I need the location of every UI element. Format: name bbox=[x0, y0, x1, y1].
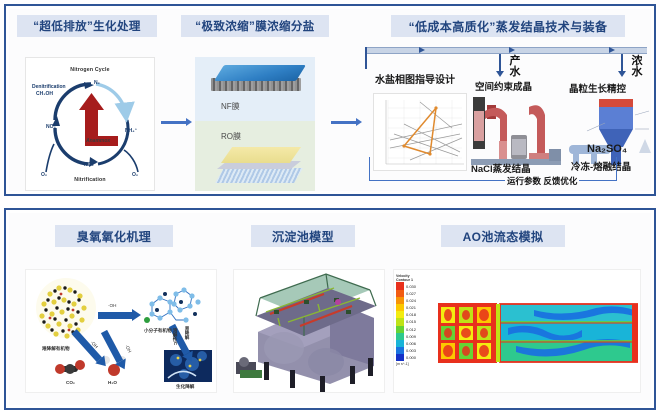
legend-value: 0.009 bbox=[406, 334, 416, 339]
legend-value: 0.000 bbox=[406, 355, 416, 360]
legend-unit: [m s^-1] bbox=[396, 362, 436, 366]
concentrated-water-downline bbox=[621, 54, 623, 72]
nitrogen-cycle-figure: Nitrogen Cycle Nitrification bbox=[25, 57, 155, 191]
na2so4-caption-top: 晶粒生长精控 bbox=[569, 81, 626, 95]
slide-root: “超低排放”生化处理 “极致浓缩”膜浓缩分盐 “低成本高质化”蒸发结晶技术与装备… bbox=[0, 0, 660, 414]
bottom-panel-inner: 臭氧氧化机理 沉淀池模型 AO池流态模拟 bbox=[9, 213, 651, 405]
chip-sedimentation-label: 沉淀池模型 bbox=[272, 228, 334, 245]
legend-row: 0.009 bbox=[394, 333, 436, 340]
legend-row: 0.030 bbox=[394, 282, 436, 289]
legend-row: 0.024 bbox=[394, 297, 436, 304]
legend-value: 0.027 bbox=[406, 291, 416, 296]
ro-support-layer bbox=[215, 168, 303, 183]
steam-bus-bar bbox=[365, 47, 647, 54]
legend-row: 0.003 bbox=[394, 347, 436, 354]
nf-slab-graphic bbox=[211, 65, 301, 95]
chip-ao-cfd-label: AO池流态模拟 bbox=[463, 228, 544, 245]
flow-arrow-2 bbox=[331, 121, 357, 124]
chip-ao-cfd[interactable]: AO池流态模拟 bbox=[441, 225, 565, 247]
chip-evaporation-label: “低成本高质化”蒸发结晶技术与装备 bbox=[409, 18, 608, 35]
ro-membrane-figure: RO膜 bbox=[195, 121, 315, 191]
feedback-loop-line bbox=[369, 157, 617, 181]
legend-swatch bbox=[396, 340, 404, 347]
ro-slab-graphic bbox=[215, 147, 303, 185]
label-o2-left: O₂ bbox=[41, 172, 47, 178]
nf-membrane-label: NF膜 bbox=[221, 101, 240, 112]
chip-biochem[interactable]: “超低排放”生化处理 bbox=[17, 15, 157, 37]
sedimentation-tank-model bbox=[233, 269, 385, 393]
sed-tank-svg bbox=[234, 270, 385, 393]
phase-chart-caption: 水盐相图指导设计 bbox=[375, 71, 455, 86]
legend-value: 0.006 bbox=[406, 341, 416, 346]
na2so4-formula: Na₂SO₄ bbox=[587, 143, 627, 155]
legend-row: 0.018 bbox=[394, 311, 436, 318]
feedback-label: 运行参数 反馈优化 bbox=[505, 175, 579, 187]
side-label-1: 溶解性C bbox=[172, 328, 178, 345]
side-label-2: 易降解 bbox=[184, 326, 190, 340]
legend-row: 0.015 bbox=[394, 318, 436, 325]
label-anammox: Anammox bbox=[86, 138, 110, 144]
oh-label-1: ·OH bbox=[108, 303, 116, 308]
legend-swatch bbox=[396, 297, 404, 304]
ro-membrane-label: RO膜 bbox=[221, 131, 241, 142]
chip-membrane-label: “极致浓缩”膜浓缩分盐 bbox=[195, 18, 314, 34]
chip-sedimentation[interactable]: 沉淀池模型 bbox=[251, 225, 355, 247]
oz-arrow-main bbox=[98, 312, 132, 319]
label-denitrification: Denitrification bbox=[32, 84, 66, 90]
legend-row: 0.000 bbox=[394, 354, 436, 361]
legend-row: 0.027 bbox=[394, 290, 436, 297]
legend-rows: 0.0300.0270.0240.0210.0180.0150.0120.009… bbox=[394, 282, 436, 361]
nf-membrane-figure: NF膜 bbox=[195, 57, 315, 121]
ozone-oxidation-figure: ·OH ·OH ·OH 难降解有机物 小分子有机物 CO₂ H₂O 生化降解 溶… bbox=[25, 269, 217, 393]
legend-value: 0.024 bbox=[406, 298, 416, 303]
na2so4-formula-text: Na₂SO₄ bbox=[587, 143, 627, 155]
cfd-contour-svg bbox=[438, 300, 638, 366]
bottom-panel: 臭氧氧化机理 沉淀池模型 AO池流态模拟 bbox=[4, 208, 656, 410]
legend-swatch bbox=[396, 304, 404, 311]
ro-active-layer bbox=[221, 147, 301, 163]
legend-row: 0.012 bbox=[394, 326, 436, 333]
legend-value: 0.012 bbox=[406, 327, 416, 332]
bus-arrow-2 bbox=[509, 47, 515, 53]
label-ch3oh: CH₃OH bbox=[36, 91, 53, 97]
chip-ozone[interactable]: 臭氧氧化机理 bbox=[55, 225, 173, 247]
co2-label: CO₂ bbox=[66, 380, 75, 385]
top-panel: “超低排放”生化处理 “极致浓缩”膜浓缩分盐 “低成本高质化”蒸发结晶技术与装备… bbox=[4, 4, 656, 196]
chip-biochem-label: “超低排放”生化处理 bbox=[33, 18, 141, 34]
legend-swatch bbox=[396, 326, 404, 333]
label-nh4: NH₄⁺ bbox=[125, 128, 137, 134]
concentrated-water-text: 浓水 bbox=[632, 55, 643, 78]
bus-left-riser bbox=[365, 47, 367, 69]
legend-value: 0.030 bbox=[406, 284, 416, 289]
chip-evaporation[interactable]: “低成本高质化”蒸发结晶技术与装备 bbox=[391, 15, 625, 37]
label-o2-right: O₂ bbox=[132, 172, 138, 178]
legend-row: 0.006 bbox=[394, 340, 436, 347]
legend-value: 0.018 bbox=[406, 312, 416, 317]
legend-swatch bbox=[396, 354, 404, 361]
product-water-text: 产水 bbox=[510, 55, 521, 78]
nf-surface bbox=[214, 65, 306, 81]
chip-membrane[interactable]: “极致浓缩”膜浓缩分盐 bbox=[181, 15, 329, 37]
legend-swatch bbox=[396, 347, 404, 354]
legend-swatch bbox=[396, 290, 404, 297]
legend-value: 0.015 bbox=[406, 319, 416, 324]
legend-row: 0.021 bbox=[394, 304, 436, 311]
label-no2: NO₂⁻ bbox=[84, 162, 96, 168]
bio-degradation-label: 生化降解 bbox=[176, 384, 194, 390]
product-water-downline bbox=[499, 54, 501, 72]
chip-ozone-label: 臭氧氧化机理 bbox=[77, 228, 151, 245]
intermediate-label: 小分子有机物 bbox=[144, 328, 172, 334]
ao-cfd-figure: Velocity Contour 1 0.0300.0270.0240.0210… bbox=[393, 269, 641, 393]
legend-value: 0.021 bbox=[406, 305, 416, 310]
legend-swatch bbox=[396, 311, 404, 318]
legend-swatch bbox=[396, 333, 404, 340]
source-label: 难降解有机物 bbox=[42, 346, 70, 352]
legend-value: 0.003 bbox=[406, 348, 416, 353]
label-n2: N₂ bbox=[94, 80, 100, 86]
bus-arrow-3 bbox=[609, 47, 615, 53]
legend-swatch bbox=[396, 318, 404, 325]
concentrated-water-label: 浓水 bbox=[631, 56, 643, 78]
flow-arrow-1 bbox=[161, 121, 187, 124]
legend-swatch bbox=[396, 282, 404, 289]
top-panel-inner: “超低排放”生化处理 “极致浓缩”膜浓缩分盐 “低成本高质化”蒸发结晶技术与装备… bbox=[9, 9, 651, 191]
velocity-legend: Velocity Contour 1 0.0300.0270.0240.0210… bbox=[394, 274, 436, 366]
label-no3: NO₃⁻ bbox=[46, 124, 58, 130]
product-water-label: 产水 bbox=[509, 56, 521, 78]
bus-arrow-1 bbox=[419, 47, 425, 53]
anammox-text: Anammox bbox=[86, 138, 110, 144]
h2o-label: H₂O bbox=[108, 380, 117, 385]
